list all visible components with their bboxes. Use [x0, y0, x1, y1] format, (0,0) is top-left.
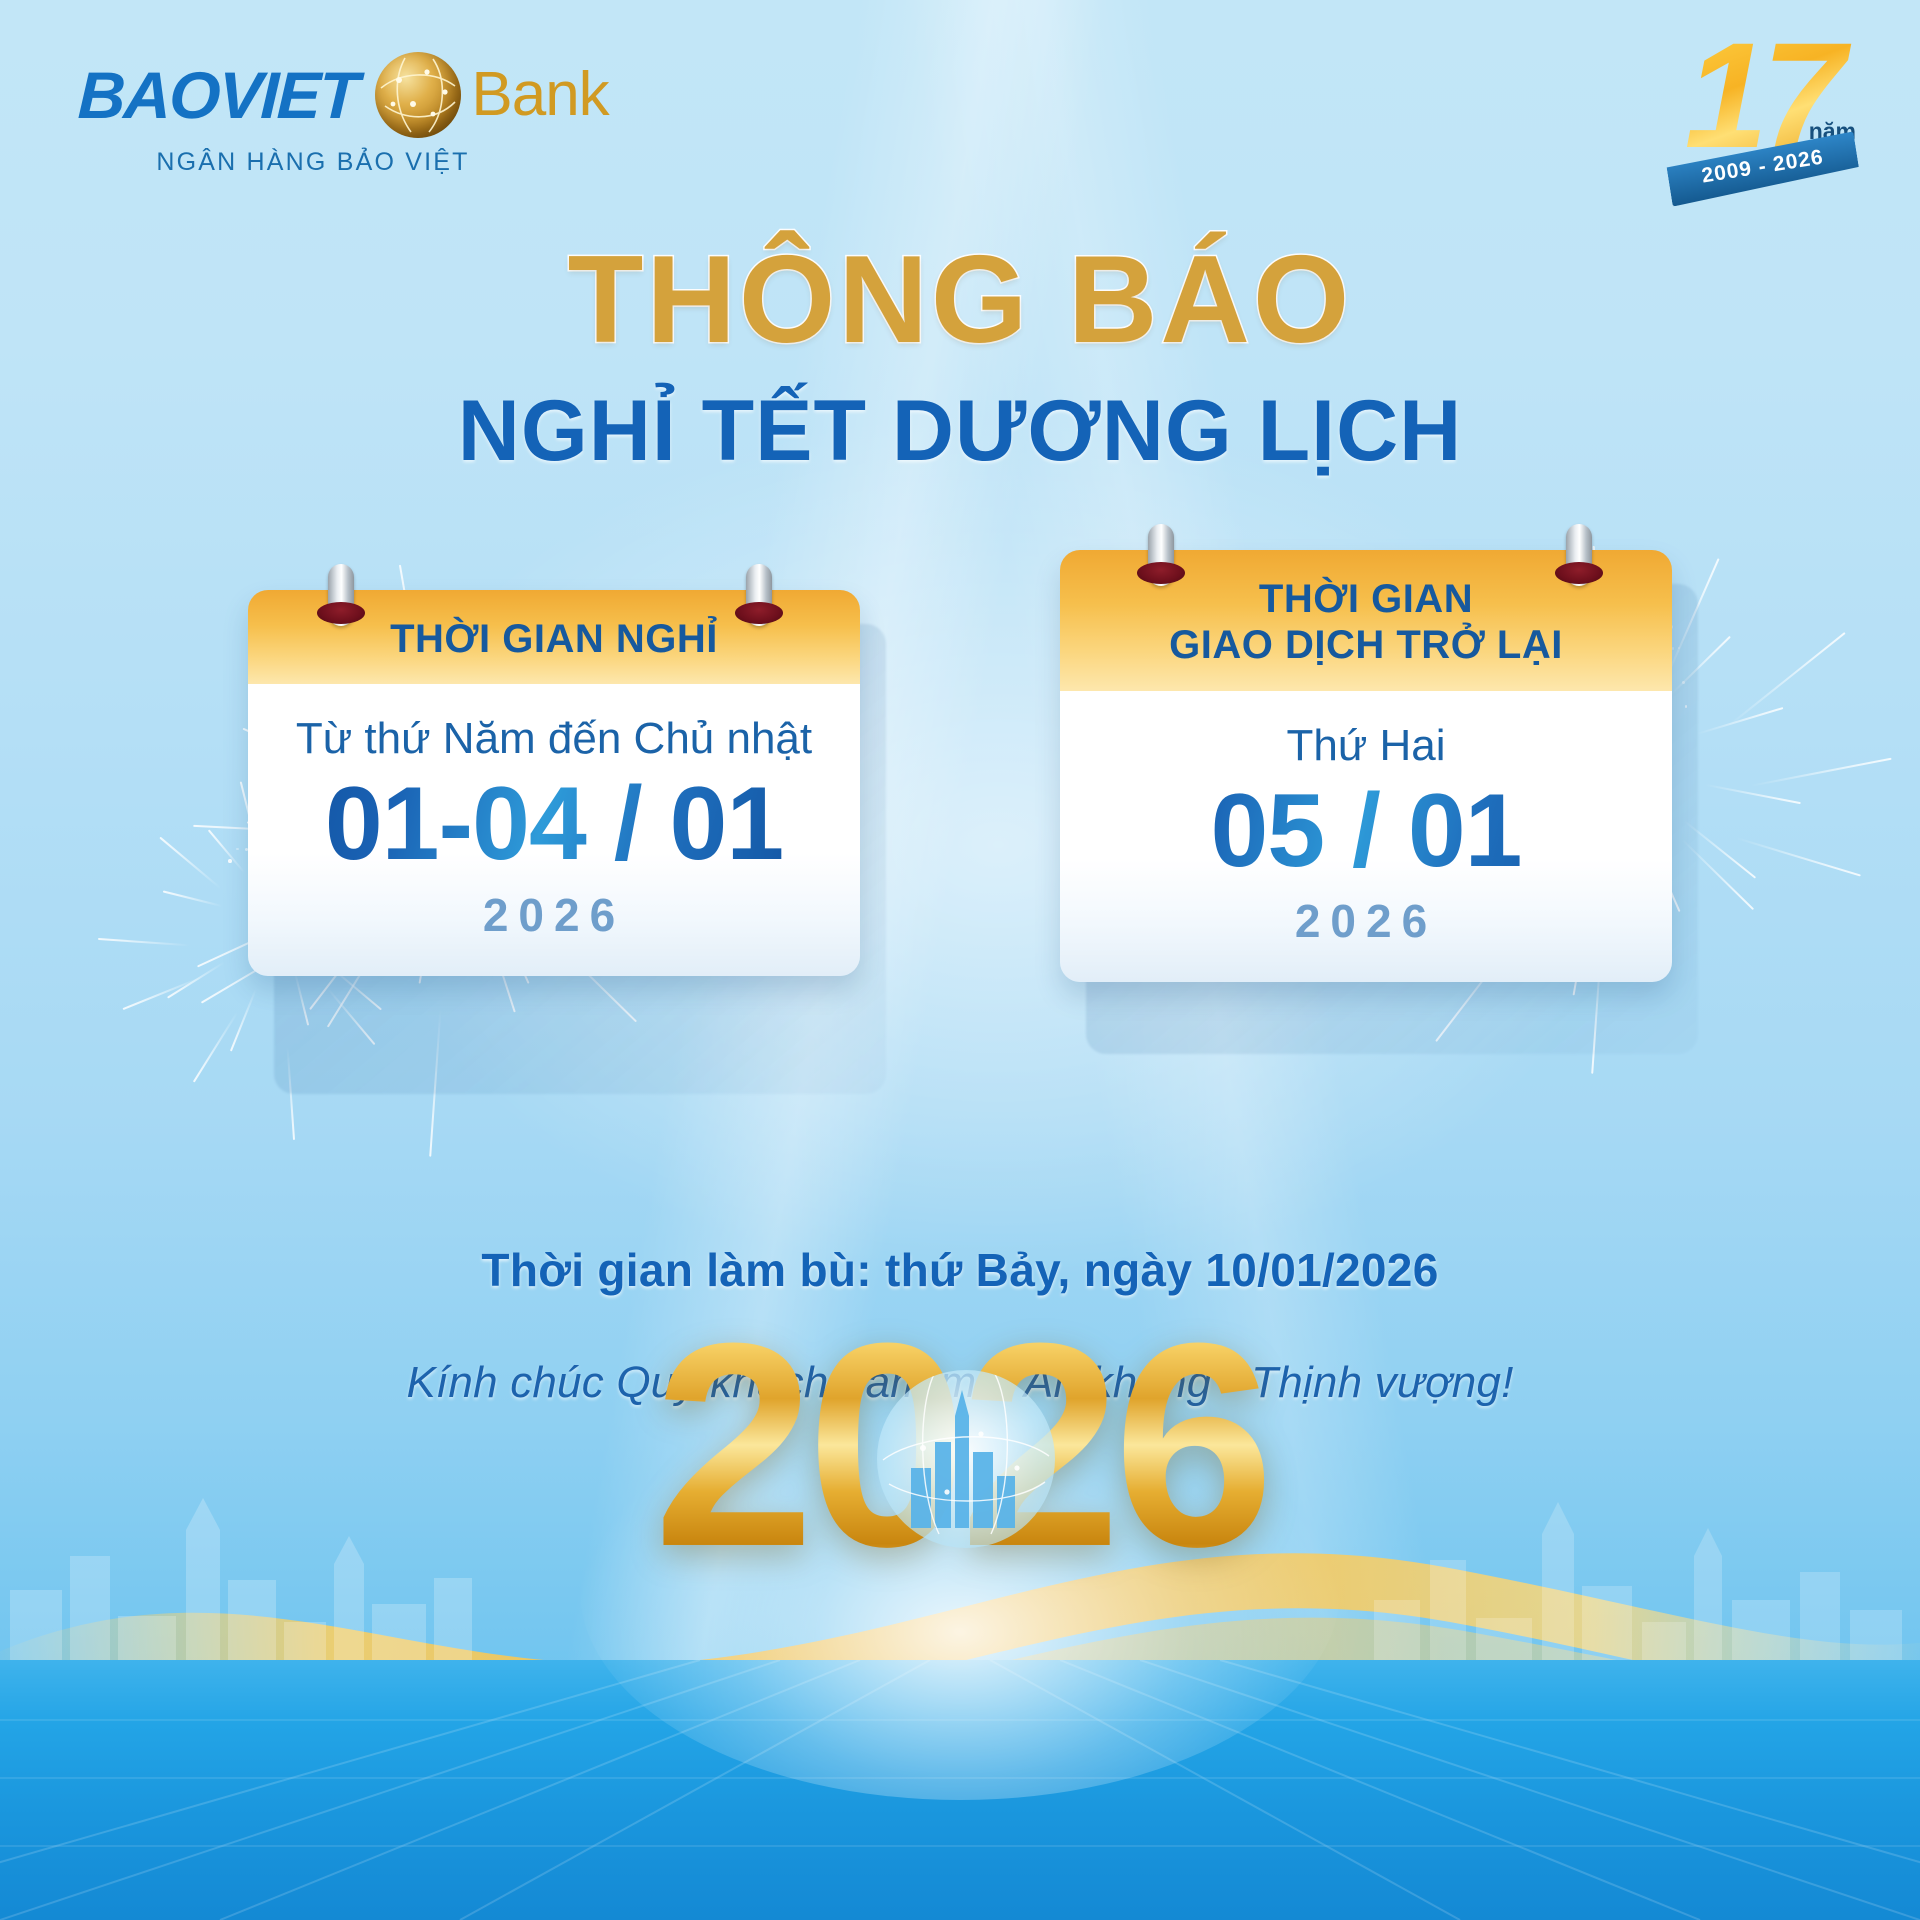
city-skyline-icon-center [877, 1370, 1055, 1548]
calendar-cards: THỜI GIAN NGHỈ Từ thứ Năm đến Chủ nhật 0… [0, 590, 1920, 1110]
card-year-left: 2026 [268, 888, 840, 942]
calendar-ring-left-2 [746, 564, 772, 626]
brand-tagline: NGÂN HÀNG BẢO VIỆT [78, 148, 548, 177]
calendar-card-reopen: THỜI GIAN GIAO DỊCH TRỞ LẠI Thứ Hai 05 /… [1060, 550, 1672, 982]
card-date-right: 05 / 01 [1080, 777, 1652, 886]
calendar-ring-right-2 [1566, 524, 1592, 586]
card-day-label-left: Từ thứ Năm đến Chủ nhật [268, 714, 840, 764]
calendar-card-body-right: THỜI GIAN GIAO DỊCH TRỞ LẠI Thứ Hai 05 /… [1060, 550, 1672, 982]
brand-logo: BAOVIET Bank NGÂN [78, 52, 609, 177]
poster-canvas: BAOVIET Bank NGÂN [0, 0, 1920, 1920]
card-date-left: 01-04 / 01 [268, 770, 840, 879]
calendar-card-body-left: THỜI GIAN NGHỈ Từ thứ Năm đến Chủ nhật 0… [248, 590, 860, 976]
brand-bank-word: Bank [471, 64, 608, 126]
anniversary-badge: 17 năm 2009 - 2026 [1662, 26, 1862, 201]
calendar-ring-right-1 [1148, 524, 1174, 586]
globe-network-icon [375, 52, 461, 138]
card-year-right: 2026 [1080, 894, 1652, 948]
calendar-ring-left-1 [328, 564, 354, 626]
calendar-card-holiday: THỜI GIAN NGHỈ Từ thứ Năm đến Chủ nhật 0… [248, 590, 860, 976]
card-content-left: Từ thứ Năm đến Chủ nhật 01-04 / 01 2026 [248, 684, 860, 975]
card-day-label-right: Thứ Hai [1080, 721, 1652, 771]
card-content-right: Thứ Hai 05 / 01 2026 [1060, 691, 1672, 982]
brand-name: BAOVIET [77, 62, 359, 128]
page-subtitle: NGHỈ TẾT DƯƠNG LỊCH [0, 388, 1920, 474]
page-title: THÔNG BÁO [0, 238, 1920, 362]
card-header-label-right-2: GIAO DỊCH TRỞ LẠI [1080, 622, 1652, 668]
